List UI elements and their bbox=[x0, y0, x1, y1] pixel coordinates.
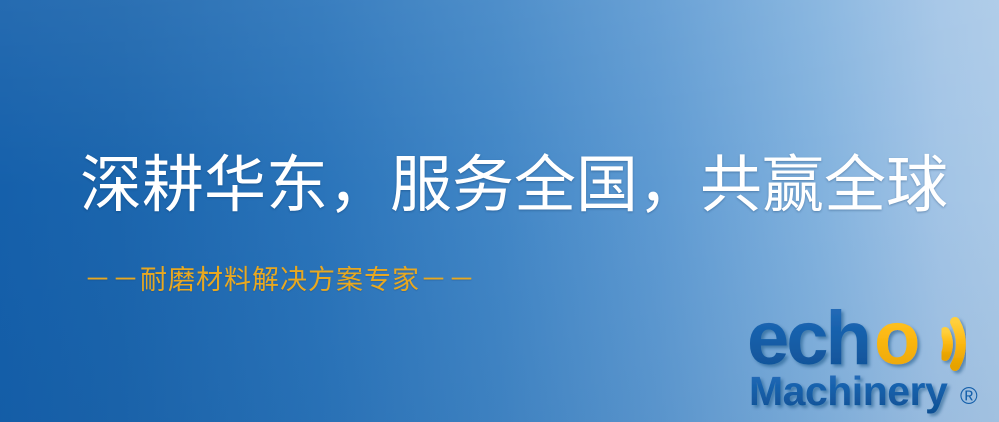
echo-machinery-logo[interactable]: ech o Machinery ® bbox=[741, 292, 997, 420]
banner-subtitle: －－耐磨材料解决方案专家－－ bbox=[84, 264, 476, 296]
registered-trademark-icon: ® bbox=[960, 383, 978, 410]
logo-tagline: Machinery bbox=[749, 368, 948, 414]
echo-wave-icon bbox=[945, 322, 961, 366]
banner-headline: 深耕华东，服务全国，共赢全球 bbox=[80, 152, 948, 221]
hero-banner: 深耕华东，服务全国，共赢全球 －－耐磨材料解决方案专家－－ bbox=[0, 0, 999, 422]
